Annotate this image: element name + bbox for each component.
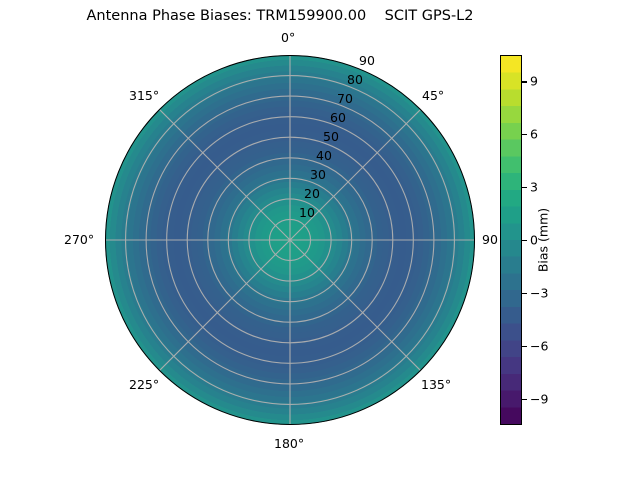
colorbar-tick-label: 9 <box>530 74 538 89</box>
colorbar-tick-mark <box>522 293 527 294</box>
figure-canvas: Antenna Phase Biases: TRM159900.00 SCIT … <box>0 0 640 480</box>
angular-tick-45: 45° <box>422 88 444 103</box>
colorbar[interactable]: −9−6−30369 <box>500 55 522 425</box>
colorbar-tick-mark <box>522 240 527 241</box>
angular-tick-90: 90 <box>482 232 498 247</box>
colorbar-tick-label: 3 <box>530 180 538 195</box>
radial-tick-50: 50 <box>323 129 339 144</box>
radial-tick-60: 60 <box>330 110 346 125</box>
page-title: Antenna Phase Biases: TRM159900.00 SCIT … <box>0 8 560 24</box>
colorbar-tick-label: −9 <box>530 391 548 406</box>
radial-tick-20: 20 <box>304 186 320 201</box>
angular-tick-225: 225° <box>129 377 159 392</box>
angular-tick-270: 270° <box>64 232 94 247</box>
angular-tick-135: 135° <box>421 377 451 392</box>
radial-tick-90: 90 <box>359 53 375 68</box>
colorbar-label: Bias (mm) <box>536 208 551 272</box>
radial-tick-80: 80 <box>347 72 363 87</box>
angular-tick-180: 180° <box>274 436 304 451</box>
colorbar-tick-label: 6 <box>530 127 538 142</box>
angular-tick-0: 0° <box>281 30 295 45</box>
angular-tick-315: 315° <box>129 88 159 103</box>
polar-data-disc <box>105 55 475 425</box>
colorbar-tick-mark <box>522 187 527 188</box>
colorbar-tick-mark <box>522 81 527 82</box>
polar-axes[interactable] <box>105 55 475 425</box>
polar-contour-fill <box>105 55 475 425</box>
colorbar-tick-label: −6 <box>530 338 548 353</box>
radial-tick-10: 10 <box>299 205 315 220</box>
radial-tick-40: 40 <box>316 148 332 163</box>
colorbar-tick-mark <box>522 134 527 135</box>
radial-tick-30: 30 <box>310 167 326 182</box>
colorbar-tick-label: −3 <box>530 285 548 300</box>
colorbar-tick-mark <box>522 399 527 400</box>
colorbar-tick-mark <box>522 346 527 347</box>
colorbar-gradient <box>500 55 522 425</box>
radial-tick-70: 70 <box>337 91 353 106</box>
